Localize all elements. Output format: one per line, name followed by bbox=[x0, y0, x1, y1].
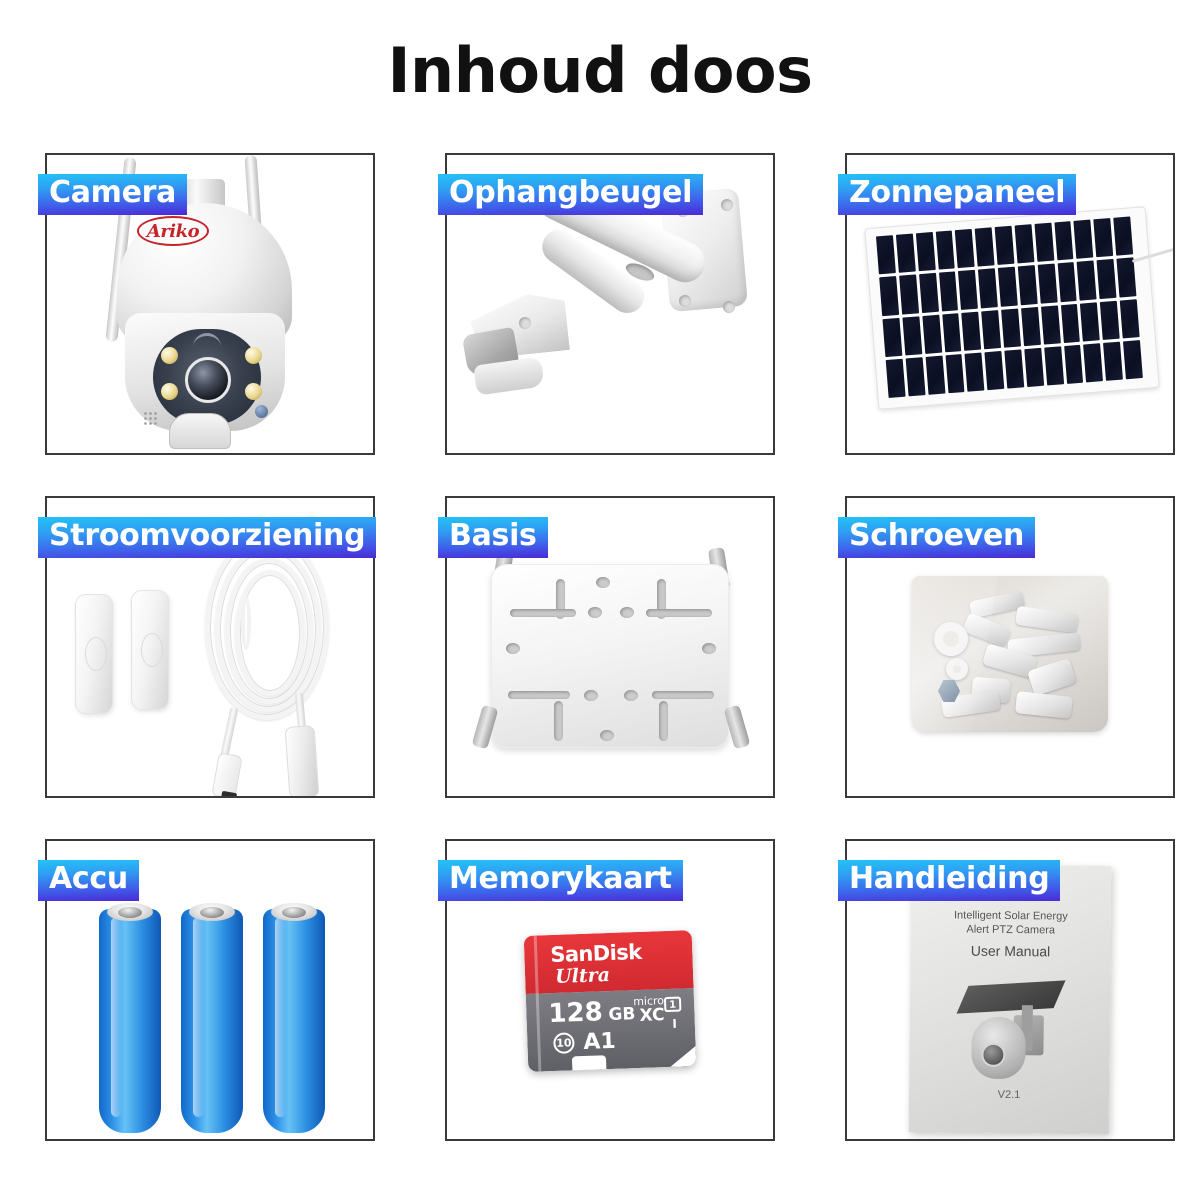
base-plate-slot bbox=[652, 691, 714, 699]
card-notch bbox=[572, 1055, 607, 1072]
solar-cell bbox=[1024, 348, 1044, 387]
wall-anchor bbox=[1015, 691, 1073, 719]
solar-cell bbox=[1100, 300, 1120, 339]
battery-cell bbox=[181, 909, 243, 1133]
base-plate-hole bbox=[600, 730, 614, 741]
solar-cell bbox=[1080, 302, 1100, 341]
solar-cell bbox=[939, 272, 959, 311]
solar-cell bbox=[998, 267, 1018, 306]
grid-cell-zonnepaneel: Zonnepaneel bbox=[845, 153, 1175, 455]
solar-cell bbox=[1018, 265, 1038, 304]
contents-grid: Camera Ariko bbox=[45, 153, 1175, 1142]
solar-cell bbox=[919, 273, 939, 312]
solar-cell bbox=[1054, 221, 1074, 260]
solar-cell bbox=[886, 358, 906, 397]
solar-cell bbox=[925, 355, 945, 394]
base-plate-hole bbox=[624, 690, 638, 701]
battery-terminal bbox=[118, 907, 142, 918]
base-plate-hole bbox=[584, 690, 598, 701]
solar-cell bbox=[1057, 262, 1077, 301]
grid-cell-basis: Basis bbox=[445, 496, 775, 798]
connector-cover bbox=[75, 594, 113, 714]
solar-cell bbox=[1014, 224, 1034, 263]
solar-cell bbox=[902, 316, 922, 355]
bracket-screw-hole bbox=[723, 301, 735, 313]
battery-highlight bbox=[193, 917, 204, 1117]
solar-cell bbox=[882, 317, 902, 356]
grid-cell-stroomvoorziening: Stroomvoorziening bbox=[45, 496, 375, 798]
solar-cell bbox=[905, 357, 925, 396]
solar-cell bbox=[935, 230, 955, 269]
solar-cell bbox=[981, 310, 1001, 349]
solar-cell bbox=[1084, 343, 1104, 382]
solar-cell bbox=[876, 235, 896, 274]
battery-cell bbox=[99, 909, 161, 1133]
camera-lens bbox=[185, 357, 231, 403]
format-label: XC bbox=[639, 1005, 665, 1026]
connector-cover bbox=[131, 590, 169, 710]
solar-cell bbox=[1001, 308, 1021, 347]
solar-cell bbox=[922, 314, 942, 353]
grid-cell-camera: Camera Ariko bbox=[45, 153, 375, 455]
solar-cell bbox=[1094, 218, 1114, 257]
base-plate-hole bbox=[620, 607, 634, 618]
badge-ophangbeugel: Ophangbeugel bbox=[438, 174, 703, 215]
badge-accu: Accu bbox=[38, 860, 139, 901]
manual-camera-lens-graphic bbox=[981, 1043, 1005, 1067]
ariko-logo: Ariko bbox=[137, 216, 209, 246]
base-plate bbox=[491, 564, 729, 748]
microsd-card: SanDisk Ultra 128 GB micro XC 1 I 10 A1 bbox=[524, 930, 697, 1072]
screws-plastic-bag bbox=[912, 576, 1108, 732]
base-plate-slot bbox=[510, 609, 576, 617]
solar-cell bbox=[978, 268, 998, 307]
battery-cell bbox=[263, 909, 325, 1133]
battery-highlight bbox=[275, 917, 286, 1117]
solar-cell bbox=[1097, 259, 1117, 298]
solar-cell bbox=[1117, 258, 1137, 297]
grid-cell-handleiding: Handleiding Wifi Intelligent Solar Energ… bbox=[845, 839, 1175, 1141]
solar-cell bbox=[958, 270, 978, 309]
solar-cell bbox=[965, 352, 985, 391]
badge-stroomvoorziening: Stroomvoorziening bbox=[38, 517, 376, 558]
led-spot-icon bbox=[161, 347, 178, 364]
ultra-line-text: Ultra bbox=[555, 964, 611, 988]
manual-title-line3: User Manual bbox=[910, 942, 1110, 960]
solar-cell bbox=[896, 234, 916, 273]
grid-cell-ophangbeugel: Ophangbeugel bbox=[445, 153, 775, 455]
solar-cell bbox=[899, 275, 919, 314]
wall-anchor bbox=[1015, 606, 1079, 633]
battery-highlight bbox=[111, 917, 122, 1117]
base-plate-slot bbox=[646, 609, 712, 617]
solar-cell bbox=[995, 226, 1015, 265]
led-spot-icon bbox=[161, 383, 178, 400]
manual-title-line2: Intelligent Solar EnergyAlert PTZ Camera bbox=[911, 908, 1111, 938]
badge-handleiding: Handleiding bbox=[838, 860, 1060, 901]
base-plate-slot bbox=[508, 691, 570, 699]
capacity-unit: GB bbox=[608, 1004, 636, 1025]
base-plate-hole bbox=[506, 643, 520, 654]
solar-cell bbox=[1113, 216, 1133, 255]
base-plate-slot bbox=[554, 701, 563, 741]
badge-basis: Basis bbox=[438, 517, 548, 558]
solar-cell bbox=[1064, 344, 1084, 383]
solar-cell bbox=[1123, 340, 1143, 379]
badge-zonnepaneel: Zonnepaneel bbox=[838, 174, 1076, 215]
solar-cell bbox=[916, 232, 936, 271]
page-title: Inhoud doos bbox=[0, 34, 1200, 107]
solar-cell bbox=[1037, 264, 1057, 303]
bracket-screw-hole bbox=[679, 295, 691, 307]
badge-camera: Camera bbox=[38, 174, 187, 215]
bracket-head-hole bbox=[519, 317, 531, 329]
solar-cell bbox=[1021, 306, 1041, 345]
bracket-screw-hole bbox=[721, 199, 733, 211]
manual-solar-panel-graphic bbox=[957, 980, 1066, 1013]
solar-cell-array bbox=[876, 216, 1143, 398]
uhs-mark-icon: I bbox=[672, 1017, 677, 1031]
sandisk-brand-text: SanDisk bbox=[550, 940, 642, 967]
app-class-label: A1 bbox=[583, 1029, 616, 1055]
solar-cell bbox=[1041, 305, 1061, 344]
solar-cell bbox=[879, 276, 899, 315]
solar-cell bbox=[1077, 261, 1097, 300]
led-spot-icon bbox=[245, 383, 262, 400]
usb-female-connector bbox=[285, 725, 320, 796]
led-spot-icon bbox=[245, 347, 262, 364]
grid-cell-memorykaart: Memorykaart SanDisk Ultra 128 GB micro X… bbox=[445, 839, 775, 1141]
battery-terminal bbox=[282, 907, 306, 918]
solar-cell bbox=[1004, 349, 1024, 388]
solar-cell bbox=[1120, 299, 1140, 338]
camera-lower-panel bbox=[169, 413, 231, 449]
grid-cell-accu: Accu bbox=[45, 839, 375, 1141]
user-manual-cover: Wifi Intelligent Solar EnergyAlert PTZ C… bbox=[909, 864, 1112, 1134]
capacity-number: 128 bbox=[548, 997, 603, 1029]
solar-cell bbox=[962, 311, 982, 350]
solar-cell bbox=[955, 229, 975, 268]
solar-cell bbox=[1103, 341, 1123, 380]
solar-cell bbox=[985, 351, 1005, 390]
solar-cell bbox=[945, 354, 965, 393]
ir-sensor-icon bbox=[255, 405, 268, 418]
solar-cell bbox=[1060, 303, 1080, 342]
base-plate-slot bbox=[659, 701, 668, 741]
manual-version: V2.1 bbox=[909, 1088, 1109, 1102]
solar-cell bbox=[975, 227, 995, 266]
cable-tie bbox=[241, 596, 251, 650]
base-plate-hole bbox=[588, 607, 602, 618]
solar-cell bbox=[1044, 346, 1064, 385]
battery-terminal bbox=[200, 907, 224, 918]
solar-cell bbox=[1074, 220, 1094, 259]
microphone-icon bbox=[143, 411, 158, 426]
base-plate-hole bbox=[596, 577, 610, 588]
badge-schroeven: Schroeven bbox=[838, 517, 1035, 558]
micro-usb-plug bbox=[211, 752, 242, 796]
base-plate-hole bbox=[702, 643, 716, 654]
badge-memorykaart: Memorykaart bbox=[438, 860, 683, 901]
infographic-page: Inhoud doos Camera Ariko bbox=[0, 0, 1200, 1200]
grid-cell-schroeven: Schroeven bbox=[845, 496, 1175, 798]
solar-cell bbox=[942, 313, 962, 352]
uhs-speed-class-icon: 1 bbox=[664, 997, 682, 1013]
cable-coil bbox=[193, 530, 353, 754]
solar-cell bbox=[1034, 223, 1054, 262]
